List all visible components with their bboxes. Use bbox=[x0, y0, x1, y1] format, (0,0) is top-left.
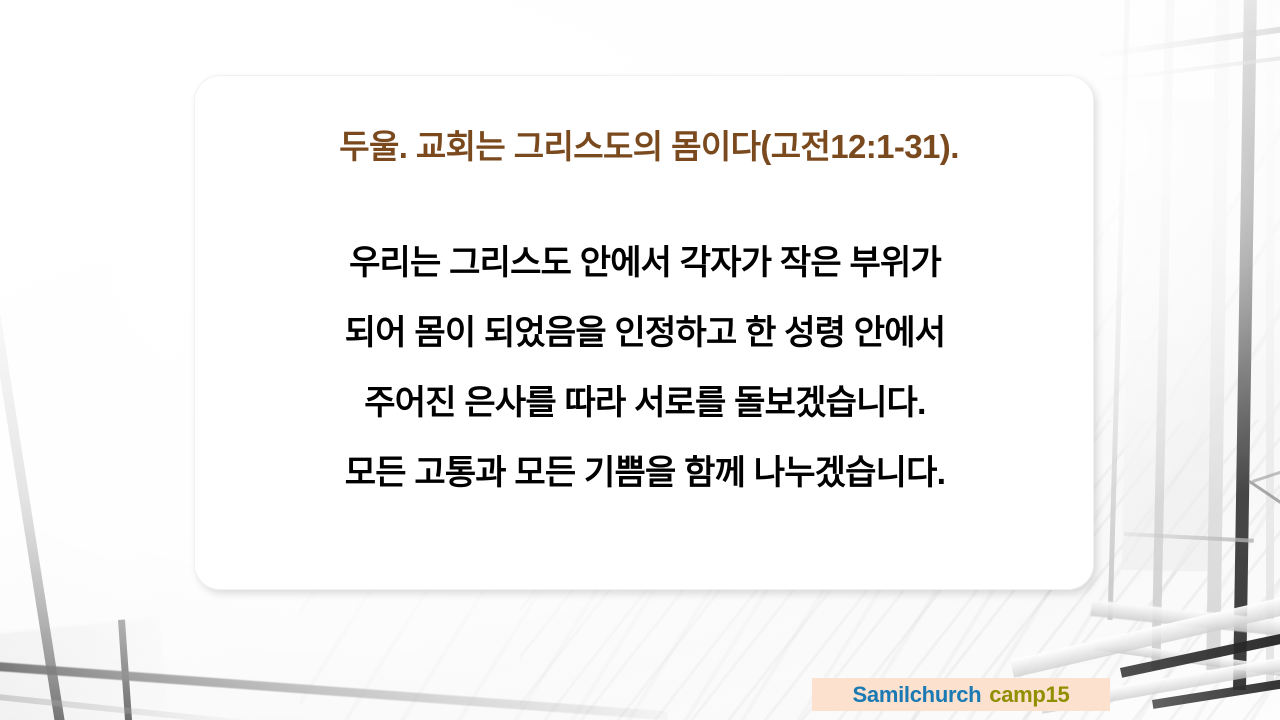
content-card: 두울. 교회는 그리스도의 몸이다(고전12:1-31). 우리는 그리스도 안… bbox=[194, 75, 1094, 590]
presentation-slide: 두울. 교회는 그리스도의 몸이다(고전12:1-31). 우리는 그리스도 안… bbox=[0, 0, 1280, 720]
body-line-1: 우리는 그리스도 안에서 각자가 작은 부위가 bbox=[213, 228, 1077, 298]
footer-badge: Samilchurch camp15 bbox=[812, 678, 1110, 711]
body-line-4: 모든 고통과 모든 기쁨을 함께 나누겠습니다. bbox=[213, 438, 1077, 508]
body-line-3: 주어진 은사를 따라 서로를 돌보겠습니다. bbox=[213, 368, 1077, 438]
footer-badge-event: camp15 bbox=[989, 682, 1069, 708]
slide-body: 우리는 그리스도 안에서 각자가 작은 부위가 되어 몸이 되었음을 인정하고 … bbox=[213, 228, 1077, 508]
slide-title: 두울. 교회는 그리스도의 몸이다(고전12:1-31). bbox=[223, 120, 1075, 168]
body-line-2: 되어 몸이 되었음을 인정하고 한 성령 안에서 bbox=[213, 298, 1077, 368]
footer-badge-organization: Samilchurch bbox=[853, 682, 982, 708]
